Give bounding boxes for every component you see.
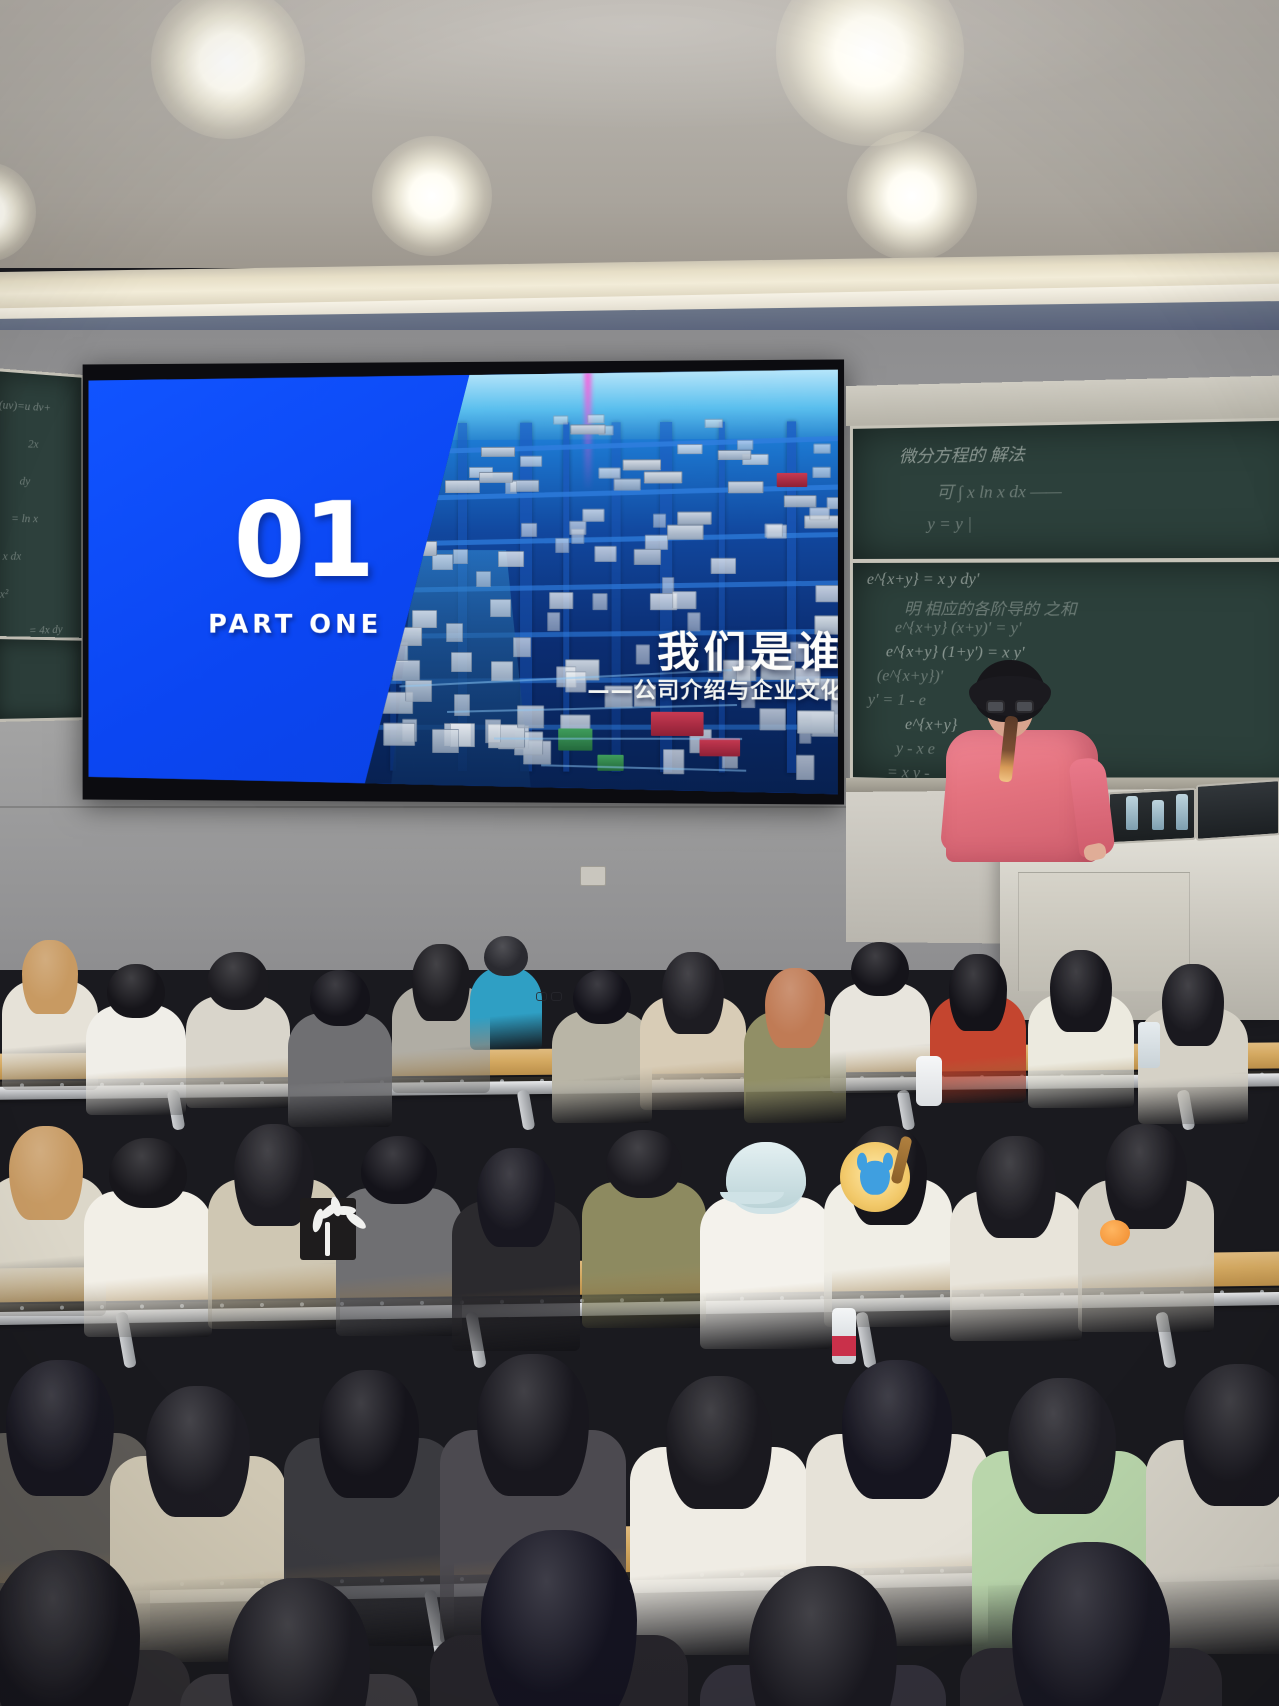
audience-person: [830, 942, 930, 1106]
person-head: [1105, 1124, 1187, 1229]
warehouse-box: [520, 456, 542, 467]
warehouse-box: [490, 599, 511, 617]
audience-person: [84, 1138, 212, 1354]
person-head: [319, 1370, 419, 1498]
presenter: [938, 660, 1108, 870]
water-cup-icon: [1138, 1022, 1160, 1068]
audience-person: [2, 940, 98, 1102]
warehouse-box: [645, 535, 667, 550]
monitor-icon: [1196, 779, 1279, 841]
chalk-writing: dy: [20, 474, 31, 489]
audience-person: [582, 1130, 706, 1344]
warehouse-box: [565, 671, 587, 692]
person-torso: [582, 1182, 706, 1328]
person-torso: [288, 1013, 392, 1127]
warehouse-box: [446, 623, 464, 642]
person-head: [477, 1148, 555, 1247]
chalk-writing: 可 ∫ x ln x dx ——: [936, 476, 1061, 503]
warehouse-box: [738, 440, 754, 450]
person-head: [949, 954, 1007, 1031]
presenter-hand: [1083, 842, 1108, 862]
presentation-slide[interactable]: 01 PART ONE 我们是谁 ——公司介绍与企业文化: [88, 370, 837, 799]
audience-person: [452, 1148, 580, 1368]
person-head: [606, 1130, 682, 1198]
blackboard-left-lower: [0, 636, 84, 722]
slide-subtitle: ——公司介绍与企业文化: [587, 672, 838, 705]
warehouse-box: [569, 521, 586, 535]
person-torso: [830, 983, 930, 1093]
chalk-writing: 2x: [28, 437, 38, 452]
warehouse-box: [667, 525, 703, 539]
warehouse-box: [392, 660, 419, 681]
person-head: [361, 1136, 437, 1204]
warehouse-box: [570, 425, 605, 435]
slide-section-label: PART ONE: [208, 610, 382, 640]
person-head: [749, 1566, 897, 1706]
audience-person: [700, 1142, 832, 1366]
person-head: [1162, 964, 1224, 1046]
person-torso: [84, 1191, 212, 1337]
warehouse-box: [451, 652, 472, 672]
warehouse-box: [521, 523, 537, 537]
warehouse-box: [476, 571, 491, 587]
chalk-writing: e^{x+y} = x y dy': [867, 571, 979, 589]
person-head: [1050, 950, 1112, 1032]
warehouse-box: [797, 710, 835, 733]
water-bottle-icon: [832, 1308, 856, 1364]
person-head: [207, 952, 269, 1010]
warehouse-box: [383, 723, 415, 747]
audience-person: [930, 954, 1026, 1116]
warehouse-box: [633, 549, 661, 564]
chalk-writing: d(uv)=u dv+: [0, 397, 51, 415]
person-torso: [86, 1005, 186, 1115]
warehouse-colored-pallet: [777, 473, 808, 487]
person-head: [107, 964, 165, 1018]
slide-title: 我们是谁: [657, 618, 838, 680]
led-screen-frame: 01 PART ONE 我们是谁 ——公司介绍与企业文化: [83, 359, 844, 804]
warehouse-box: [677, 511, 712, 525]
person-head: [6, 1360, 114, 1496]
chalk-writing: 明 相应的各阶导的 之和: [904, 595, 1077, 620]
warehouse-box: [592, 593, 608, 610]
warehouse-box: [599, 467, 621, 479]
audience-person: [1028, 950, 1134, 1122]
warehouse-floor-line: [494, 737, 742, 739]
warehouse-box: [653, 514, 666, 528]
warehouse-box: [454, 694, 471, 716]
orange-fruit-icon: [1100, 1220, 1130, 1246]
person-head: [481, 1530, 637, 1706]
person-head: [765, 968, 825, 1048]
person-head: [22, 940, 78, 1014]
warehouse-box: [783, 495, 816, 508]
person-torso: [700, 1197, 832, 1349]
chalk-writing: = 4x dy: [29, 622, 63, 638]
warehouse-box: [717, 450, 750, 461]
person-head: [851, 942, 909, 996]
warehouse-upright: [718, 422, 724, 772]
person-head: [146, 1386, 250, 1517]
chalk-writing: y - x e: [896, 740, 935, 759]
warehouse-box: [553, 415, 568, 424]
chalk-writing: e^{x+y} (x+y)' = y': [895, 619, 1022, 638]
warehouse-box: [594, 546, 617, 561]
warehouse-box: [636, 644, 650, 664]
palm-tree-graphic-icon: [300, 1198, 356, 1260]
person-head: [228, 1578, 370, 1706]
warehouse-box: [759, 708, 786, 731]
warehouse-box: [644, 472, 682, 484]
thermos-icon: [916, 1056, 942, 1106]
water-bottle-icon: [1152, 800, 1164, 830]
person-head: [109, 1138, 187, 1208]
warehouse-box: [412, 610, 438, 628]
audience-person: [288, 970, 392, 1140]
desk-leg: [517, 1089, 536, 1130]
stitch-character-icon: [860, 1160, 890, 1194]
palm-trunk: [325, 1222, 330, 1256]
audience-person: [430, 1530, 688, 1706]
warehouse-box: [813, 467, 831, 479]
person-torso: [552, 1011, 652, 1123]
warehouse-box: [588, 414, 605, 423]
stitch-ear: [857, 1152, 867, 1170]
person-head: [1183, 1364, 1279, 1506]
audience-person: [552, 970, 652, 1136]
water-bottle-icon: [1126, 796, 1138, 830]
audience-person: [180, 1578, 418, 1706]
chalk-writing: 微分方程的 解法: [899, 440, 1025, 467]
audience-person: [640, 952, 746, 1124]
audience-person: [186, 952, 290, 1122]
audience-person: [1078, 1124, 1214, 1350]
power-outlet-icon: [580, 866, 606, 886]
audience-person: [950, 1136, 1082, 1358]
warehouse-box: [445, 480, 481, 492]
warehouse-box: [505, 481, 517, 493]
warehouse-box: [453, 549, 468, 564]
person-head: [662, 952, 724, 1034]
warehouse-box: [513, 637, 532, 657]
warehouse-box: [827, 497, 838, 510]
warehouse-box: [728, 481, 763, 493]
chalk-writing: y = y |: [927, 514, 972, 535]
chalk-writing: 4x²: [0, 587, 8, 602]
warehouse-box: [548, 612, 561, 630]
person-head: [1012, 1542, 1170, 1706]
warehouse-box: [672, 591, 696, 608]
warehouse-box: [549, 592, 574, 609]
downlight-icon: [847, 131, 977, 261]
chalk-writing: = ln x: [11, 511, 38, 526]
chalk-writing: (e^{x+y})': [877, 667, 943, 686]
warehouse-box: [623, 460, 661, 471]
warehouse-box: [432, 729, 459, 753]
warehouse-box: [432, 554, 453, 570]
chalk-writing: x dx: [3, 549, 22, 564]
person-head: [976, 1136, 1056, 1238]
warehouse-colored-pallet: [699, 738, 740, 756]
audience-person: [700, 1566, 946, 1706]
slide-section-number: 01: [234, 488, 373, 592]
person-head: [666, 1376, 772, 1509]
person-head: [412, 944, 470, 1021]
person-torso: [470, 966, 542, 1050]
warehouse-floor-line: [541, 765, 746, 772]
person-head: [1008, 1378, 1116, 1514]
warehouse-box: [663, 749, 684, 774]
warehouse-colored-pallet: [650, 712, 703, 736]
warehouse-box: [481, 447, 516, 458]
person-head: [310, 970, 370, 1026]
audience-person: [86, 964, 186, 1128]
person-head: [842, 1360, 952, 1499]
lecture-hall-photo: d(uv)=u dv+2xdy= ln xx dx4x²= 4x dy 01 P…: [0, 0, 1279, 1706]
person-head: [0, 1550, 140, 1706]
downlight-icon: [372, 136, 492, 256]
audience-person: [960, 1542, 1222, 1706]
bottle-label: [832, 1336, 856, 1356]
warehouse-box: [479, 471, 513, 483]
chalk-writing: y' = 1 - e: [868, 691, 926, 710]
warehouse-box: [613, 478, 640, 490]
warehouse-box: [491, 661, 514, 682]
warehouse-box: [555, 538, 569, 553]
audience-person: [0, 1550, 190, 1706]
warehouse-box: [705, 418, 723, 427]
audience-seating: [0, 930, 1279, 1706]
warehouse-box: [764, 524, 782, 538]
glasses-icon: [986, 700, 1034, 713]
warehouse-box: [796, 754, 814, 779]
blackboard-right-upper: 微分方程的 解法可 ∫ x ln x dx ——y = y |: [850, 417, 1279, 562]
person-head: [484, 936, 528, 976]
person-head: [477, 1354, 589, 1496]
stitch-ear: [883, 1152, 893, 1170]
warehouse-box: [677, 444, 703, 455]
warehouse-box: [711, 558, 736, 574]
audience-person: [470, 936, 542, 1060]
warehouse-box: [813, 443, 830, 454]
warehouse-box: [498, 551, 524, 566]
glasses-icon: [536, 992, 562, 1001]
water-bottle-icon: [1176, 794, 1188, 830]
warehouse-box: [815, 585, 838, 602]
person-head: [573, 970, 631, 1024]
person-head: [9, 1126, 83, 1220]
person-torso: [186, 996, 290, 1108]
